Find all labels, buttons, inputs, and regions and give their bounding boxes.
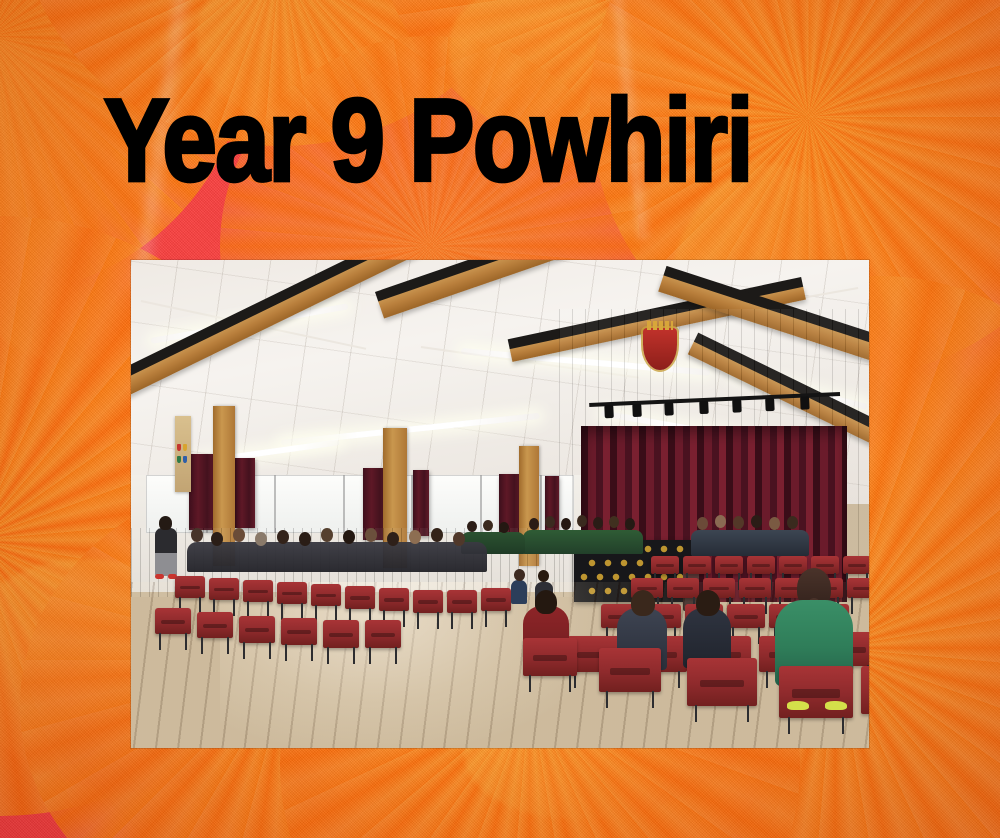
standing-adult — [155, 528, 177, 576]
hall-chair — [739, 578, 771, 598]
seated-person — [511, 580, 527, 604]
poster-canvas: Year 9 Powhiri — [0, 0, 1000, 838]
stage-spotlight-icon — [631, 403, 641, 416]
seated-head — [191, 528, 203, 542]
window-curtain — [189, 454, 215, 530]
student-head — [499, 522, 509, 533]
standing-adult-shoe — [155, 574, 164, 579]
window-mullion — [540, 475, 542, 534]
hall-chair — [197, 612, 233, 638]
stage-spotlight-icon — [799, 396, 809, 409]
hall-chair — [277, 582, 307, 604]
stage-spotlight-icon — [764, 398, 774, 411]
adult-head — [733, 516, 744, 529]
window-curtain — [235, 458, 255, 528]
student-head — [483, 520, 493, 531]
hall-chair — [481, 588, 511, 611]
hall-chair — [861, 666, 869, 714]
hall-chair — [447, 590, 477, 613]
student-head — [545, 516, 555, 528]
adult-head — [787, 516, 798, 529]
student-head — [609, 516, 619, 528]
hall-chair — [687, 658, 757, 706]
hall-chair — [715, 556, 743, 574]
hall-chair — [345, 586, 375, 609]
hall-chair — [281, 618, 317, 645]
hall-chair — [747, 556, 775, 574]
stage-spotlight-icon — [604, 405, 614, 418]
seated-head — [299, 532, 311, 546]
hall-chair — [727, 604, 765, 628]
student-head — [561, 518, 571, 530]
adult-head — [769, 517, 780, 530]
adult-group — [691, 530, 809, 556]
stage-spotlight-icon — [664, 402, 674, 415]
stage-spotlight-icon — [699, 400, 709, 413]
adult-head — [751, 515, 762, 528]
crest-shield-icon — [643, 328, 677, 370]
hall-chair — [683, 556, 711, 574]
adult-head — [697, 517, 708, 530]
window-mullion — [274, 475, 276, 534]
hall-chair — [413, 590, 443, 613]
house-colour-swatch — [177, 444, 181, 451]
hall-chair — [209, 578, 239, 600]
seated-head — [431, 528, 443, 542]
seated-head — [255, 532, 267, 546]
seated-head — [277, 530, 289, 544]
house-colour-swatch — [183, 456, 187, 463]
school-crest-icon — [643, 328, 677, 370]
house-colours-banner — [175, 416, 191, 492]
student-head — [577, 515, 587, 527]
hall-chair — [599, 648, 661, 692]
hall-chair — [243, 580, 273, 602]
seated-head — [233, 528, 245, 542]
seated-head — [453, 532, 465, 546]
seated-head — [343, 530, 355, 544]
seated-row-people — [187, 542, 487, 572]
seated-head — [538, 570, 549, 582]
student-head — [625, 518, 635, 530]
seated-head — [387, 532, 399, 546]
foreground-person-shoe — [787, 701, 809, 710]
hall-chair — [779, 666, 853, 718]
hall-chair — [365, 620, 401, 648]
seated-head — [535, 590, 557, 614]
hall-chair — [651, 556, 679, 574]
house-colour-swatch — [177, 456, 181, 463]
hall-chair — [523, 638, 577, 676]
student-head — [467, 521, 477, 532]
house-colour-swatch — [183, 444, 187, 451]
foreground-person-shoe — [825, 701, 847, 710]
seated-head — [514, 569, 525, 581]
student-group — [523, 530, 643, 554]
window-mullion — [343, 475, 345, 534]
page-title: Year 9 Powhiri — [104, 83, 951, 200]
window-curtain — [413, 470, 429, 536]
hall-chair — [239, 616, 275, 643]
student-head — [529, 518, 539, 530]
seated-head — [409, 530, 421, 544]
seated-head — [321, 528, 333, 542]
hall-chair — [667, 578, 699, 598]
standing-adult-head — [159, 516, 172, 530]
stage-spotlight-icon — [732, 399, 742, 412]
hall-chair — [175, 576, 205, 598]
seated-head — [365, 528, 377, 542]
hall-chair — [311, 584, 341, 606]
window-mullion — [480, 475, 482, 534]
crest-crown-icon — [647, 321, 673, 330]
adult-head — [715, 515, 726, 528]
hall-chair — [379, 588, 409, 611]
hall-photograph — [131, 260, 869, 748]
hall-chair — [155, 608, 191, 634]
seated-head — [211, 532, 223, 546]
seated-head — [631, 590, 655, 616]
hall-chair — [323, 620, 359, 648]
student-head — [593, 517, 603, 529]
seated-head — [696, 590, 720, 616]
